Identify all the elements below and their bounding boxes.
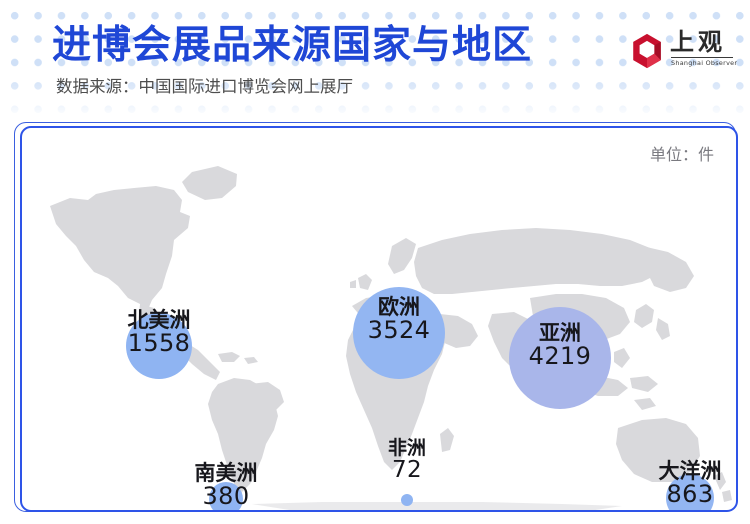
- logo-name-en: Shanghai Observer: [671, 59, 737, 68]
- label-africa: 非洲 72: [388, 438, 426, 483]
- data-source-subtitle: 数据来源：中国国际进口博览会网上展厅: [56, 76, 353, 98]
- infographic-root: 进博会展品来源国家与地区 数据来源：中国国际进口博览会网上展厅 上观 Shang…: [0, 0, 750, 524]
- label-asia: 亚洲 4219: [529, 322, 592, 370]
- region-name: 南美洲: [195, 462, 258, 484]
- hexagon-logo-icon: [628, 32, 666, 70]
- region-value: 380: [195, 484, 258, 509]
- region-value: 4219: [529, 344, 592, 369]
- region-name: 非洲: [388, 438, 426, 458]
- region-value: 3524: [368, 318, 431, 343]
- region-name: 欧洲: [368, 296, 431, 318]
- region-name: 北美洲: [128, 309, 191, 331]
- header: 进博会展品来源国家与地区 数据来源：中国国际进口博览会网上展厅 上观 Shang…: [0, 0, 750, 120]
- region-value: 863: [659, 482, 722, 507]
- label-europe: 欧洲 3524: [368, 296, 431, 344]
- label-south-america: 南美洲 380: [195, 462, 258, 510]
- shanghai-observer-logo: 上观 Shanghai Observer: [628, 30, 738, 74]
- region-value: 1558: [128, 331, 191, 356]
- bubble-africa[interactable]: [401, 494, 413, 506]
- region-value: 72: [388, 458, 426, 482]
- logo-divider: [671, 57, 733, 58]
- region-name: 大洋洲: [659, 460, 722, 482]
- logo-name-cn: 上观: [670, 28, 726, 56]
- label-north-america: 北美洲 1558: [128, 309, 191, 357]
- region-name: 亚洲: [529, 322, 592, 344]
- page-title: 进博会展品来源国家与地区: [52, 24, 532, 68]
- map-card: 单位：件: [20, 126, 738, 512]
- label-oceania: 大洋洲 863: [659, 460, 722, 508]
